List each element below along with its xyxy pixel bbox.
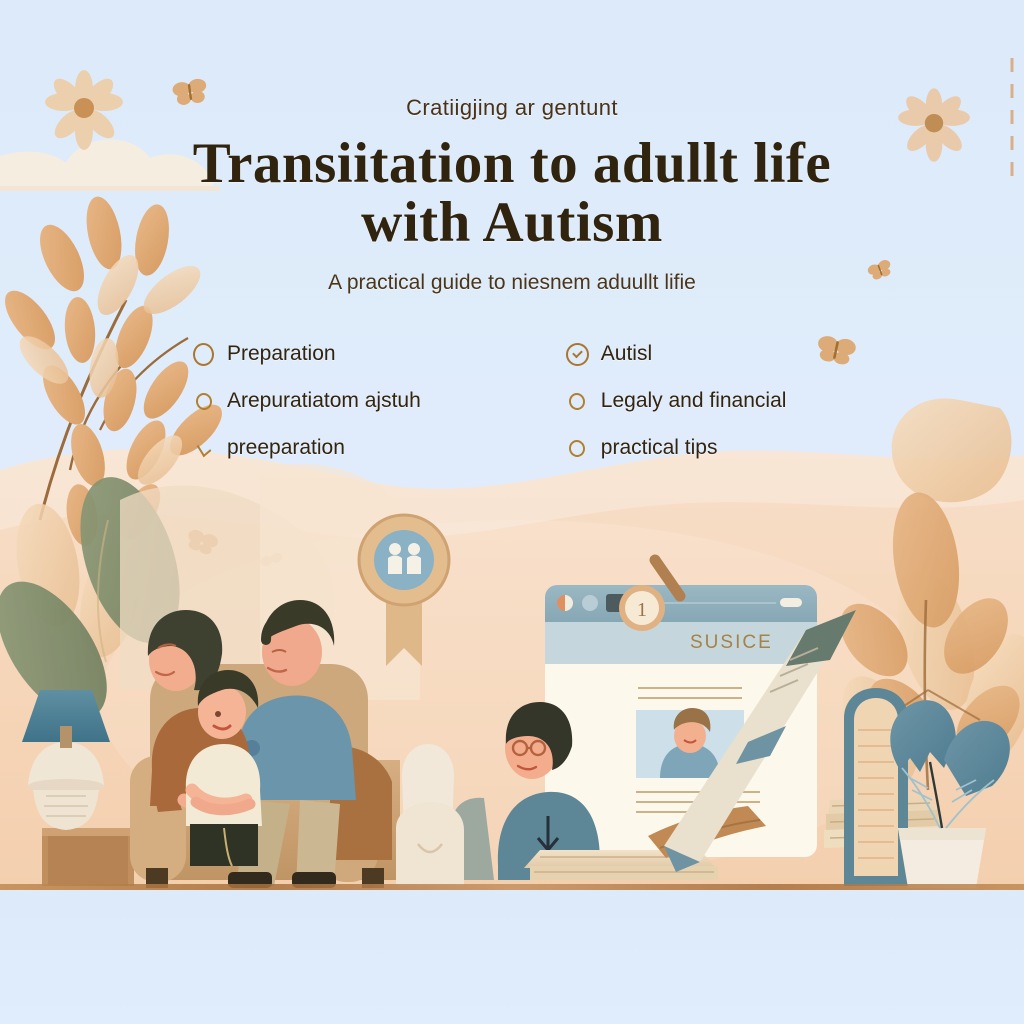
list-item-label: Preparation	[227, 342, 336, 366]
poster-subtitle: A practical guide to niesnem aduullt lif…	[0, 271, 1024, 295]
title-line-1: Transiitation to adullt life	[0, 135, 1024, 194]
bullet-column-left: Preparation Arepuratiatom ajstuh preepar…	[193, 342, 421, 460]
bullet-list: Preparation Arepuratiatom ajstuh preepar…	[193, 342, 853, 460]
potted-plant	[890, 700, 1010, 888]
bullet-column-right: Autisl Legaly and financial practical ti…	[567, 342, 787, 460]
page-title: Transiitation to adullt life with Autism	[0, 135, 1024, 252]
list-item[interactable]: Autisl	[567, 342, 787, 366]
small-circle-marker-icon	[567, 438, 588, 459]
circle-marker-icon	[193, 344, 214, 365]
decor-vase	[396, 744, 464, 886]
title-line-2: with Autism	[0, 194, 1024, 253]
poster-text-block: Cratiigjing ar gentunt Transiitation to …	[0, 95, 1024, 295]
list-item[interactable]: Preparation	[193, 342, 421, 366]
table-lamp	[22, 690, 110, 830]
list-item-label: Legaly and financial	[601, 389, 787, 413]
list-item[interactable]: Legaly and financial	[567, 389, 787, 413]
list-item-label: practical tips	[601, 436, 718, 460]
list-item-label: Autisl	[601, 342, 652, 366]
medal-number: 1	[637, 599, 647, 621]
browser-site-label: SUSICE	[690, 632, 773, 654]
list-item-label: preeparation	[227, 436, 345, 460]
poster-kicker: Cratiigjing ar gentunt	[0, 95, 1024, 121]
list-item-label: Arepuratiatom ajstuh	[227, 389, 421, 413]
check-marker-icon	[193, 438, 214, 459]
list-item[interactable]: preeparation	[193, 436, 421, 460]
bottom-band	[0, 890, 1024, 1024]
list-item[interactable]: practical tips	[567, 436, 787, 460]
small-circle-marker-icon	[193, 391, 214, 412]
list-item[interactable]: Arepuratiatom ajstuh	[193, 389, 421, 413]
small-circle-marker-icon	[567, 391, 588, 412]
check-circle-marker-icon	[567, 344, 588, 365]
side-table	[42, 828, 134, 886]
poster-canvas: 1	[0, 0, 1024, 1024]
